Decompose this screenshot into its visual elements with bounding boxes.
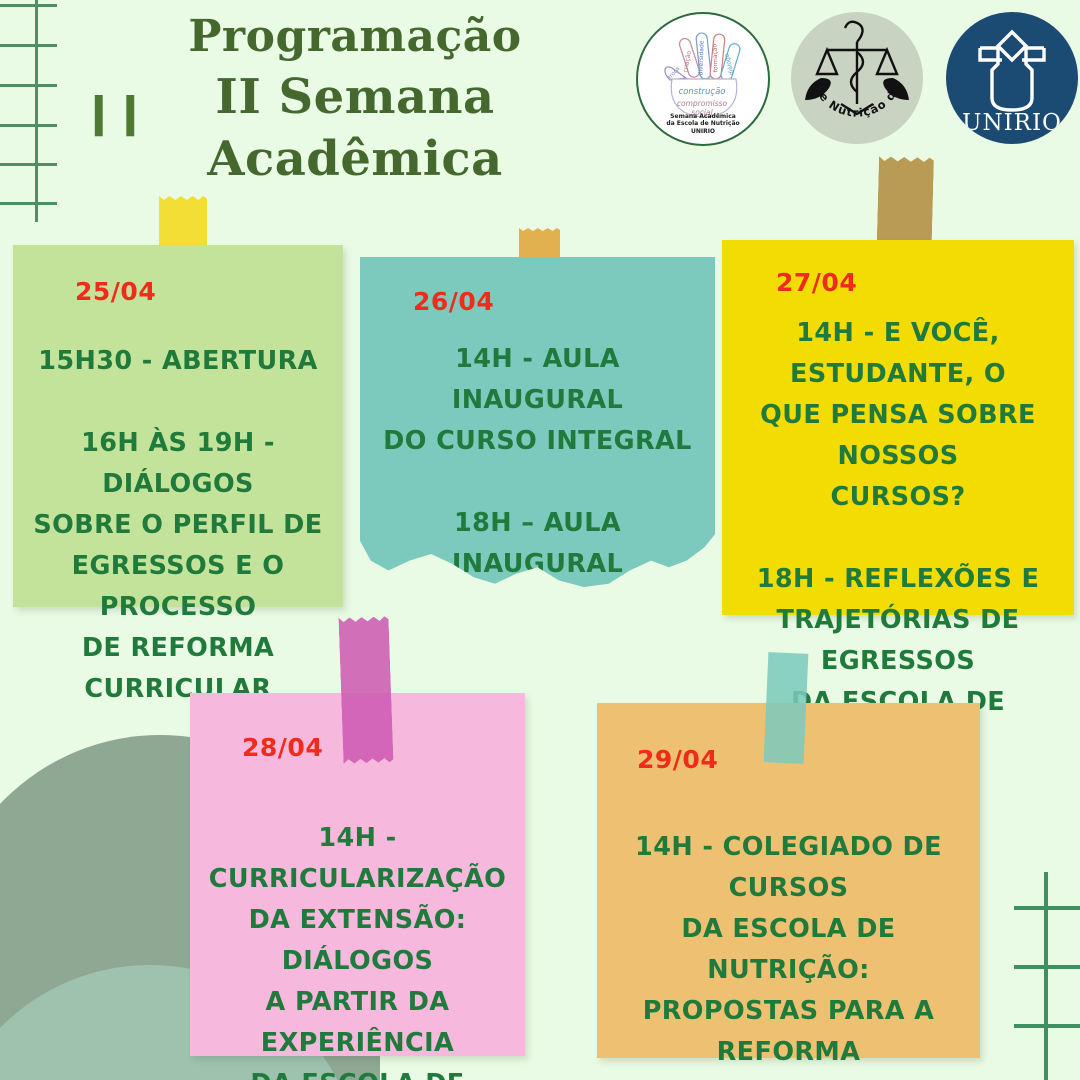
svg-text:compromisso: compromisso (677, 99, 728, 108)
note-body-line: DO CURSO INTEGRAL (370, 421, 705, 462)
tape-29-04 (764, 652, 809, 764)
note-body-line: EGRESSOS E O PROCESSO (21, 546, 335, 628)
title-line-1: Programação (75, 8, 635, 66)
poster-header: Programação II Semana Acadêmica construç… (0, 0, 1080, 165)
unirio-mark-icon: UNIRIO (946, 12, 1078, 144)
unirio-wordmark: UNIRIO (962, 110, 1062, 136)
note-date: 27/04 (776, 268, 857, 297)
hand-caption-line-2: da Escola de Nutrição (638, 120, 768, 128)
poster-canvas: ❙❙ Programação II Semana Acadêmica const (0, 0, 1080, 1080)
note-date: 28/04 (242, 733, 323, 762)
title-line-2: II Semana Acadêmica (75, 66, 635, 190)
note-body: 14H - COLEGIADO DE CURSOSDA ESCOLA DE NU… (597, 827, 980, 1080)
svg-text:construção: construção (679, 87, 726, 97)
note-body-line: SOBRE O PERFIL DE (21, 505, 335, 546)
page-title: Programação II Semana Acadêmica (75, 8, 635, 190)
svg-text:diversidade: diversidade (697, 40, 705, 75)
note-body-line: 14H - AULA INAUGURAL (370, 339, 705, 421)
note-body-line: 15H30 - ABERTURA (21, 341, 335, 382)
logo-row: construção compromisso social criação di… (636, 12, 1080, 162)
note-body-line: 16H ÀS 19H - DIÁLOGOS (21, 423, 335, 505)
note-body-line: 14H - CURRICULARIZAÇÃO (198, 818, 517, 900)
seal-ring-text: Escola de Nutrição da Unirio (791, 12, 903, 120)
grid-decoration-bottom-right (1000, 850, 1080, 1080)
note-body: 14H - AULA INAUGURALDO CURSO INTEGRAL18H… (360, 339, 715, 626)
note-body-line: 18H – AULA INAUGURAL (370, 503, 705, 585)
note-body-line: DA ESCOLA DE NUTRIÇÃO: (607, 909, 970, 991)
note-date: 29/04 (637, 745, 718, 774)
note-body-line: CURRICULAR (607, 1073, 970, 1080)
note-body: 15H30 - ABERTURA16H ÀS 19H - DIÁLOGOSSOB… (13, 341, 343, 710)
note-card-25-04[interactable]: 25/04 15H30 - ABERTURA16H ÀS 19H - DIÁLO… (13, 245, 343, 607)
note-body-line: DO CURSO NOTURNO (370, 585, 705, 626)
note-body-line: CURSOS? (731, 477, 1065, 518)
scales-serpent-icon: Escola de Nutrição da Unirio (791, 12, 923, 144)
note-card-26-04[interactable]: 26/04 14H - AULA INAUGURALDO CURSO INTEG… (360, 257, 715, 587)
hand-logo-caption: Semana Acadêmica da Escola de Nutrição U… (638, 113, 768, 136)
svg-text:Escola de Nutrição da Unirio: Escola de Nutrição da Unirio (791, 12, 903, 120)
note-body-line: 18H - REFLEXÕES E (731, 559, 1065, 600)
note-body-line: PROPOSTAS PARA A REFORMA (607, 991, 970, 1073)
note-card-27-04[interactable]: 27/04 14H - E VOCÊ, ESTUDANTE, OQUE PENS… (722, 240, 1074, 615)
note-body-line: DA EXTENSÃO: DIÁLOGOS (198, 900, 517, 982)
note-date: 26/04 (413, 287, 494, 316)
note-body-line: 14H - E VOCÊ, ESTUDANTE, O (731, 313, 1065, 395)
note-date: 25/04 (75, 277, 156, 306)
note-body-line: DA ESCOLA DE NUTRIÇÃO (198, 1064, 517, 1080)
note-body-line: 14H - COLEGIADO DE CURSOS (607, 827, 970, 909)
svg-text:formação: formação (711, 43, 719, 72)
note-body-line: QUE PENSA SOBRE NOSSOS (731, 395, 1065, 477)
semana-academica-hand-logo: construção compromisso social criação di… (636, 12, 770, 146)
note-body: 14H - CURRICULARIZAÇÃODA EXTENSÃO: DIÁLO… (190, 818, 525, 1080)
unirio-logo: UNIRIO (946, 12, 1078, 144)
escola-de-nutricao-seal: Escola de Nutrição da Unirio (791, 12, 923, 144)
hand-caption-line-3: UNIRIO (638, 128, 768, 136)
tape-28-04 (338, 616, 393, 764)
note-body-line: A PARTIR DA EXPERIÊNCIA (198, 982, 517, 1064)
hand-caption-line-1: Semana Acadêmica (638, 113, 768, 121)
